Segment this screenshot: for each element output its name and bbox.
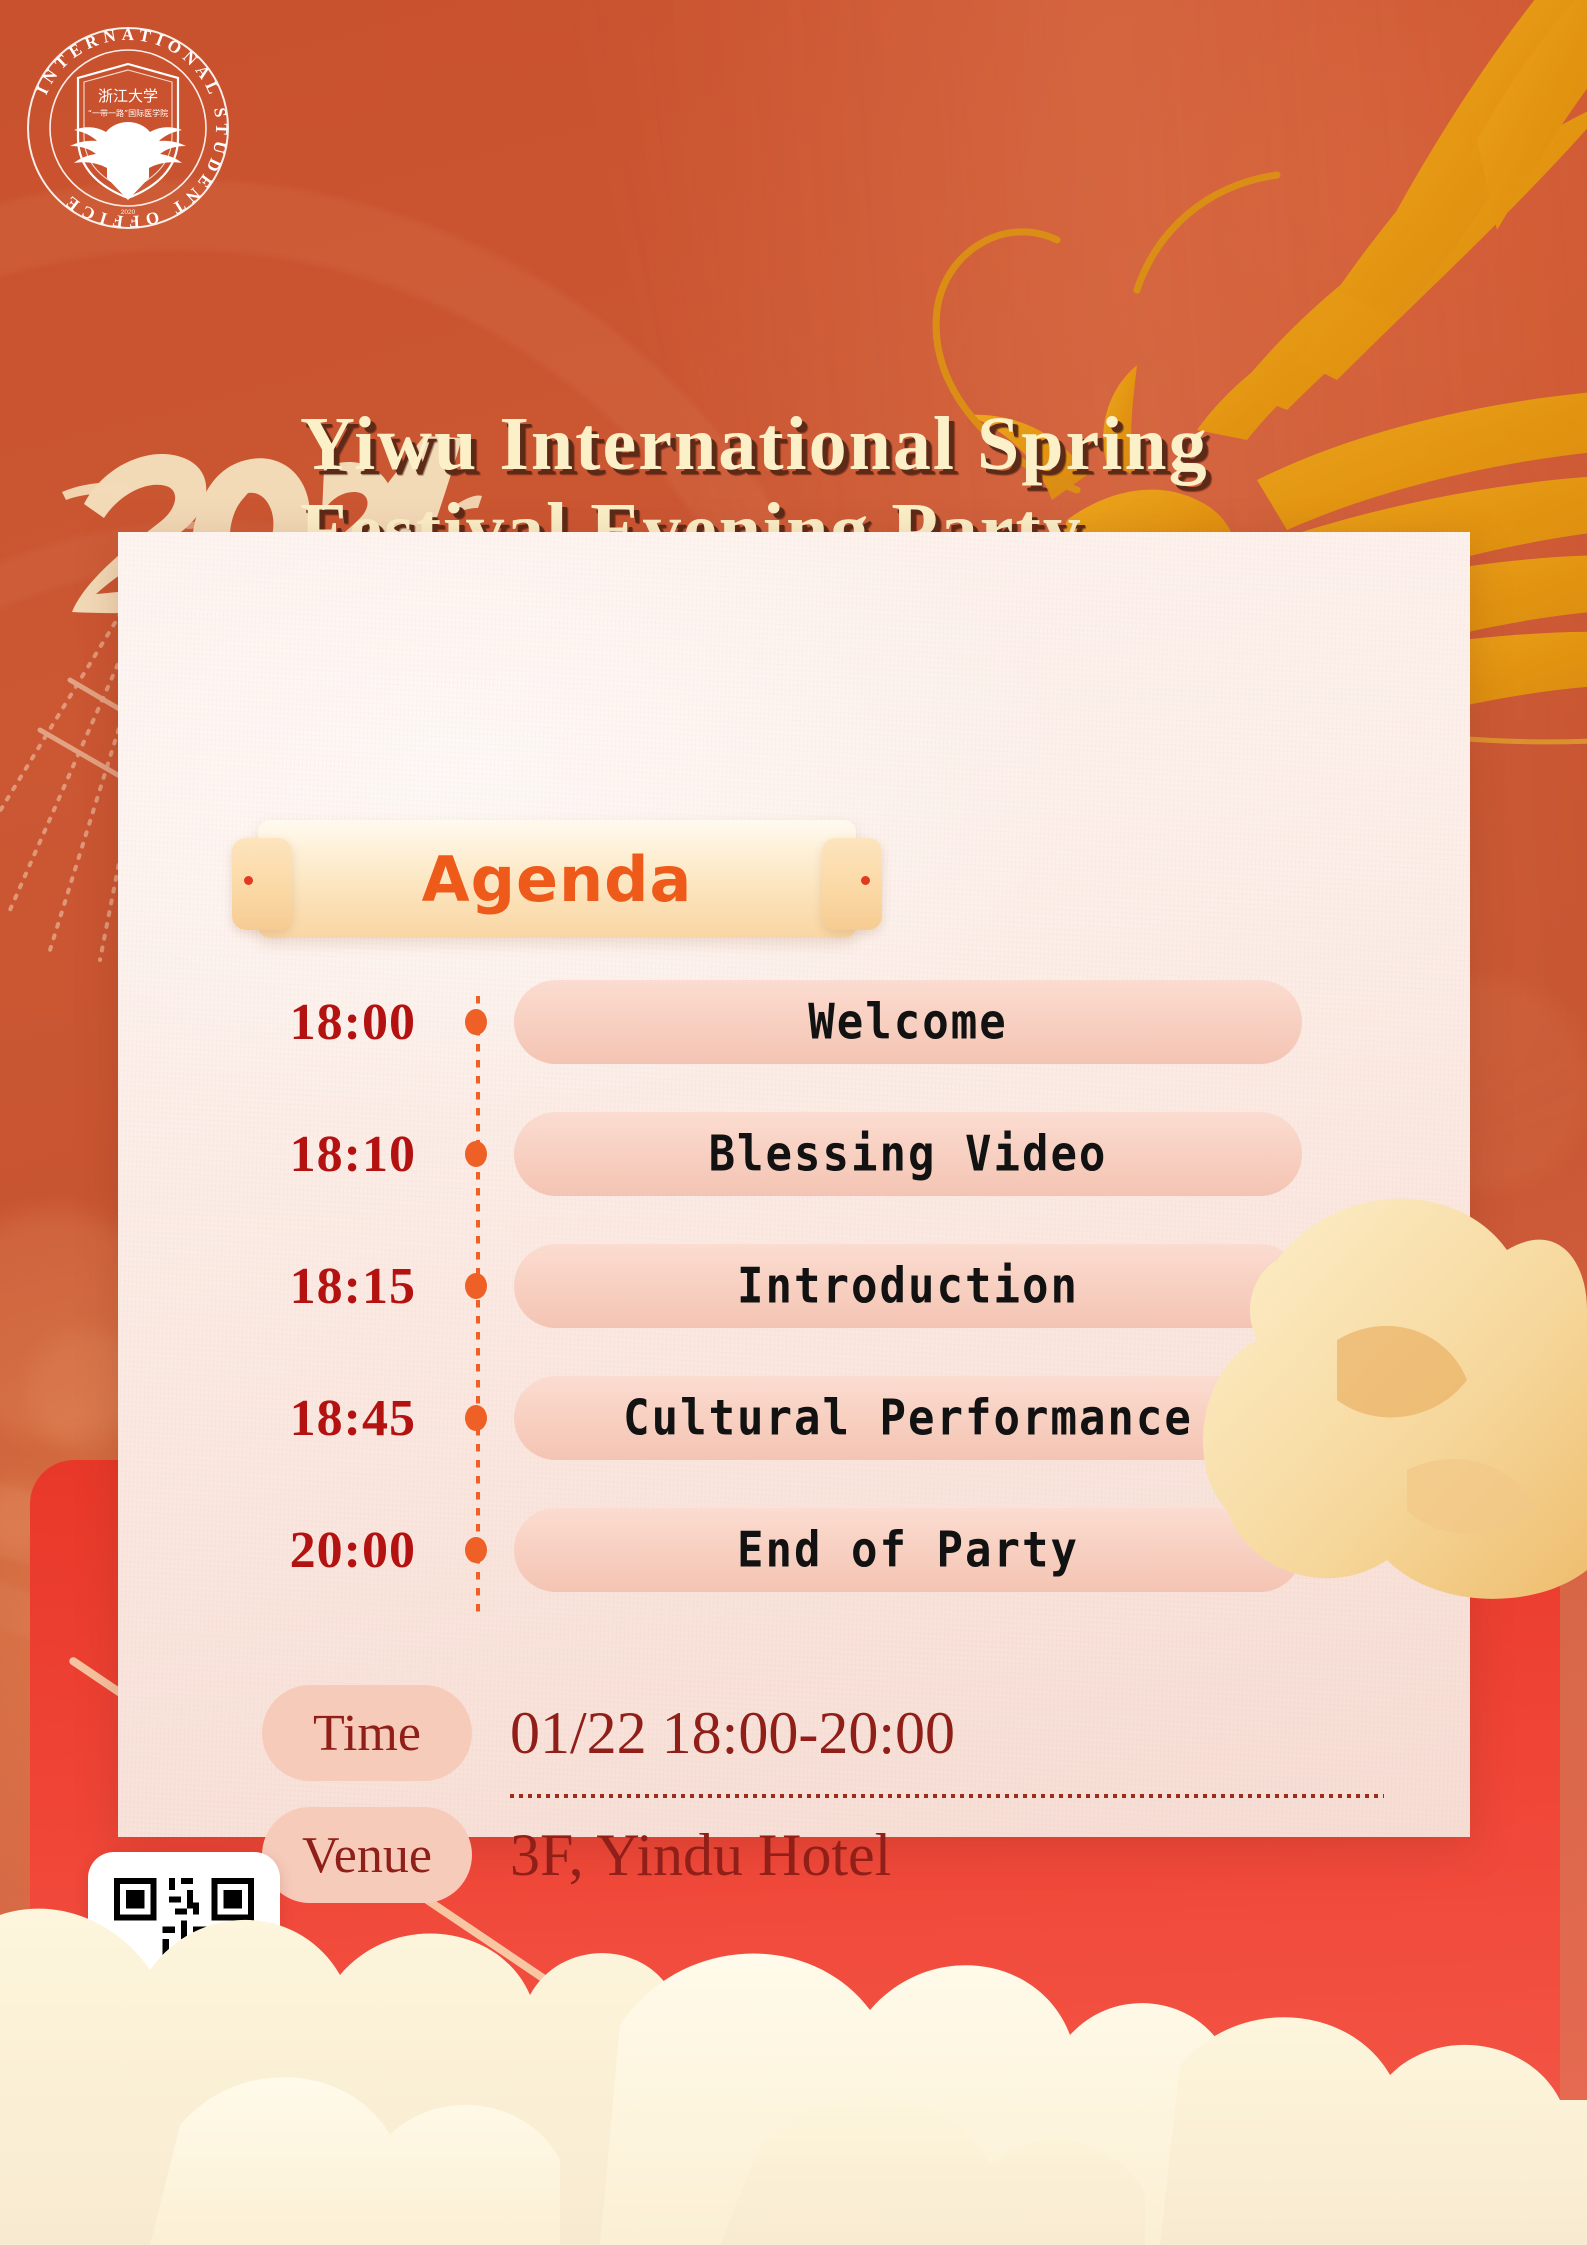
agenda-row-label: Cultural Performance: [623, 1389, 1193, 1446]
agenda-row: 18:00 Welcome: [118, 980, 1470, 1064]
university-logo-icon: INTERNATIONAL STUDENT OFFICE 浙江大学 “一带一路”…: [18, 18, 238, 238]
banner-dot-left: [244, 876, 253, 885]
agenda-banner-body: Agenda: [258, 820, 856, 938]
logo-year: 2020: [121, 209, 136, 216]
banner-scroll-right: [822, 838, 882, 930]
cloud-icon: [0, 1725, 1587, 2245]
timeline-dot-icon: [438, 1537, 514, 1563]
logo-cn-sub: “一带一路”国际医学院: [88, 108, 168, 118]
agenda-row-pill: Welcome: [514, 980, 1302, 1064]
agenda-row-time: 20:00: [118, 1521, 438, 1580]
agenda-row-time: 18:45: [118, 1389, 438, 1448]
gold-cloud-icon: [1157, 1140, 1587, 1680]
banner-scroll-left: [232, 838, 292, 930]
agenda-row-time: 18:15: [118, 1257, 438, 1316]
agenda-banner-label: Agenda: [422, 843, 693, 916]
timeline-dot-icon: [438, 1141, 514, 1167]
poster-root: 2024 INTERNATIONAL STUDENT OFFICE 浙江大学 “…: [0, 0, 1587, 2245]
agenda-row-label: Blessing Video: [709, 1125, 1108, 1182]
agenda-row-label: End of Party: [737, 1521, 1079, 1578]
timeline-dot-icon: [438, 1009, 514, 1035]
timeline-dot-icon: [438, 1405, 514, 1431]
agenda-row-label: Welcome: [808, 993, 1007, 1050]
agenda-row-time: 18:10: [118, 1125, 438, 1184]
banner-dot-right: [861, 876, 870, 885]
agenda-row-time: 18:00: [118, 993, 438, 1052]
agenda-row-label: Introduction: [737, 1257, 1079, 1314]
agenda-banner: Agenda: [232, 806, 882, 941]
timeline-dot-icon: [438, 1273, 514, 1299]
logo-cn-title: 浙江大学: [98, 87, 158, 105]
title-line-1: Yiwu International Spring: [300, 402, 1560, 488]
